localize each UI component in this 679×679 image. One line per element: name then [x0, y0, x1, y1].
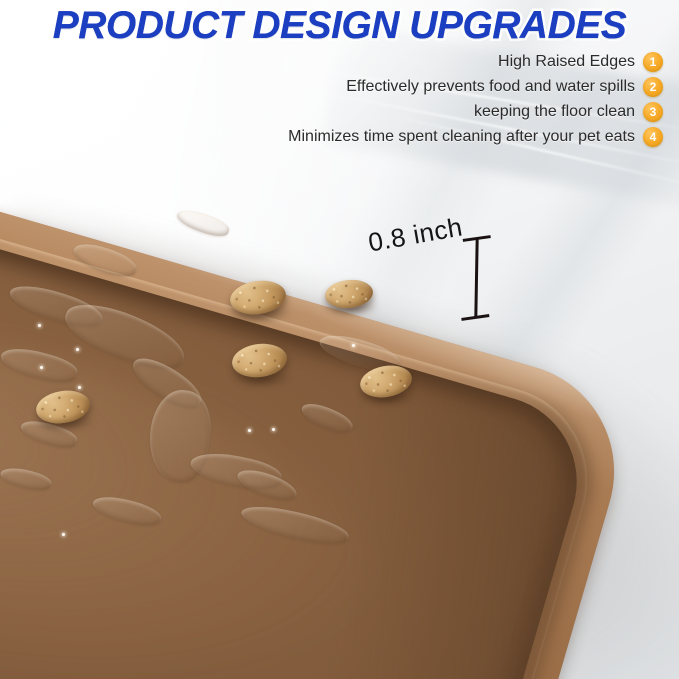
feature-number-badge: 1	[643, 52, 663, 72]
feature-text: keeping the floor clean	[474, 103, 635, 121]
feature-list: High Raised Edges 1 Effectively prevents…	[288, 52, 663, 147]
feature-number-badge: 3	[643, 102, 663, 122]
list-item: keeping the floor clean 3	[474, 102, 663, 122]
feature-number-badge: 2	[643, 77, 663, 97]
product-marketing-image: 0.8 inch PRODUCT DESIGN UPGRADES PRODUCT…	[0, 0, 679, 679]
feature-text: High Raised Edges	[498, 53, 635, 71]
dimension-cap-bottom	[461, 314, 489, 320]
feature-number-badge: 4	[643, 127, 663, 147]
feature-text: Minimizes time spent cleaning after your…	[288, 128, 635, 146]
list-item: Minimizes time spent cleaning after your…	[288, 127, 663, 147]
dimension-marker-icon	[461, 236, 490, 320]
dimension-line	[474, 238, 478, 318]
page-title: PRODUCT DESIGN UPGRADES	[0, 4, 679, 48]
list-item: High Raised Edges 1	[498, 52, 663, 72]
list-item: Effectively prevents food and water spil…	[346, 77, 663, 97]
feature-text: Effectively prevents food and water spil…	[346, 78, 635, 96]
